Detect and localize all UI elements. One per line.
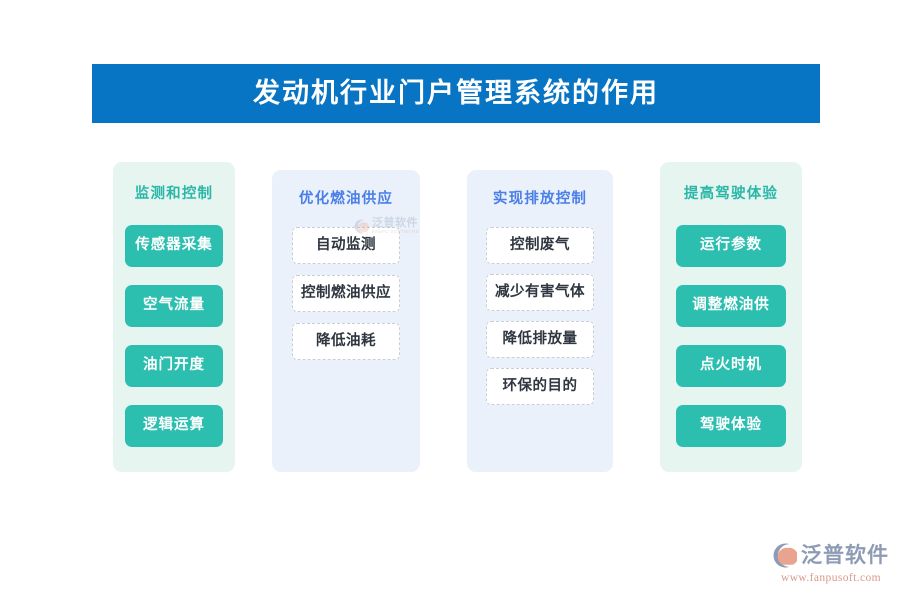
item-monitor-1[interactable]: 传感器采集 <box>125 225 223 267</box>
column-fuel-title: 优化燃油供应 <box>299 192 393 207</box>
page-title: 发动机行业门户管理系统的作用 <box>253 80 659 107</box>
brand-row: 泛普软件 <box>768 540 894 570</box>
column-driving: 提高驾驶体验 运行参数 调整燃油供 点火时机 驾驶体验 <box>660 162 802 472</box>
column-driving-title: 提高驾驶体验 <box>684 187 778 202</box>
column-monitor-title: 监测和控制 <box>135 187 214 202</box>
column-emission-title: 实现排放控制 <box>493 192 587 207</box>
brand-logo: 泛普软件 www.fanpusoft.com <box>768 540 894 588</box>
item-emission-1[interactable]: 控制废气 <box>486 227 594 264</box>
item-monitor-2[interactable]: 空气流量 <box>125 285 223 327</box>
item-fuel-2[interactable]: 控制燃油供应 <box>292 275 400 312</box>
column-fuel-items: 自动监测 控制燃油供应 降低油耗 <box>272 227 420 360</box>
item-fuel-1[interactable]: 自动监测 <box>292 227 400 264</box>
column-monitor: 监测和控制 传感器采集 空气流量 油门开度 逻辑运算 <box>113 162 235 472</box>
item-emission-4[interactable]: 环保的目的 <box>486 368 594 405</box>
item-emission-2[interactable]: 减少有害气体 <box>486 274 594 311</box>
column-emission: 实现排放控制 控制废气 减少有害气体 降低排放量 环保的目的 <box>467 170 613 472</box>
item-monitor-4[interactable]: 逻辑运算 <box>125 405 223 447</box>
column-fuel: 优化燃油供应 自动监测 控制燃油供应 降低油耗 <box>272 170 420 472</box>
column-emission-items: 控制废气 减少有害气体 降低排放量 环保的目的 <box>467 227 613 405</box>
item-driving-2[interactable]: 调整燃油供 <box>676 285 786 327</box>
item-emission-3[interactable]: 降低排放量 <box>486 321 594 358</box>
column-monitor-items: 传感器采集 空气流量 油门开度 逻辑运算 <box>113 225 235 447</box>
fanpu-logo-icon <box>768 541 797 570</box>
item-driving-3[interactable]: 点火时机 <box>676 345 786 387</box>
item-monitor-3[interactable]: 油门开度 <box>125 345 223 387</box>
title-banner: 发动机行业门户管理系统的作用 <box>92 64 820 123</box>
brand-name: 泛普软件 <box>801 545 889 566</box>
slide-canvas: 发动机行业门户管理系统的作用 监测和控制 传感器采集 空气流量 油门开度 逻辑运… <box>0 0 900 600</box>
column-driving-items: 运行参数 调整燃油供 点火时机 驾驶体验 <box>660 225 802 447</box>
item-driving-4[interactable]: 驾驶体验 <box>676 405 786 447</box>
brand-url: www.fanpusoft.com <box>768 572 894 584</box>
item-driving-1[interactable]: 运行参数 <box>676 225 786 267</box>
item-fuel-3[interactable]: 降低油耗 <box>292 323 400 360</box>
